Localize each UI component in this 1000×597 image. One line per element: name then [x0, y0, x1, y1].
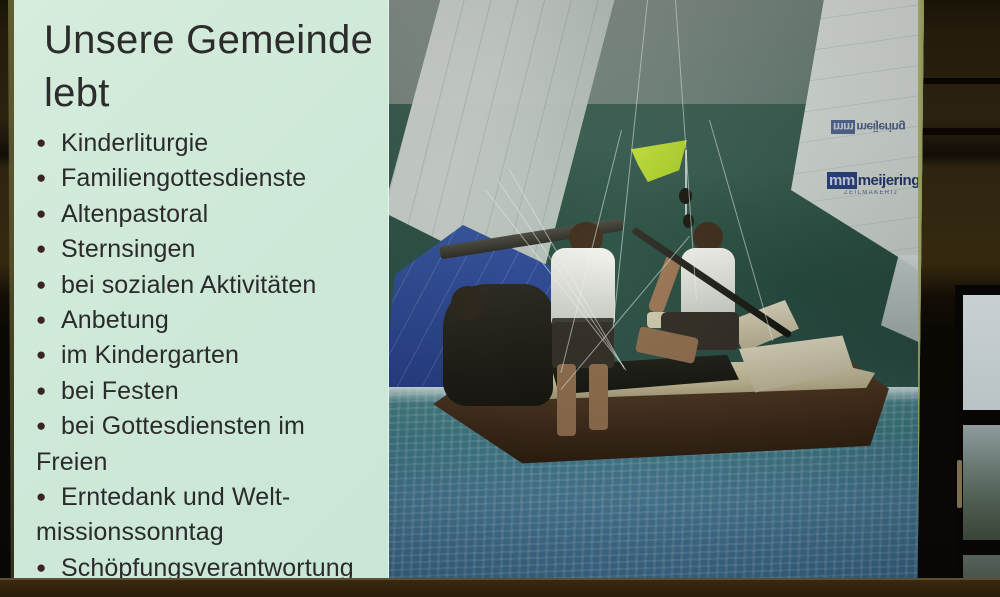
slide-text-panel: Unsere Gemeinde lebt Kinderliturgie Fami… [14, 0, 389, 578]
list-item: Erntedank und Welt- [36, 480, 381, 515]
sail-logo-mirrored: mmmeijering [831, 120, 905, 134]
list-item: bei sozialen Aktivitäten [36, 268, 381, 303]
list-item-continuation: Freien [36, 445, 381, 480]
slide-title: Unsere Gemeinde lebt [44, 14, 381, 120]
slide-bullet-list: Kinderliturgie Familiengottesdienste Alt… [36, 126, 381, 578]
rigging-block-lower [683, 214, 694, 228]
list-item-continuation: missionssonntag [36, 515, 381, 550]
sail-logo-primary: mmmeijering [827, 172, 920, 189]
screenshot-stage: Unsere Gemeinde lebt Kinderliturgie Fami… [0, 0, 1000, 597]
bottom-dark-band [0, 578, 1000, 597]
slide-photo-sailing: mmmeijering mmmeijering ZEILMAKERIJ [389, 0, 924, 578]
list-item: Anbetung [36, 303, 381, 338]
list-item: Familiengottesdienste [36, 161, 381, 196]
list-item: bei Festen [36, 374, 381, 409]
window-pane-top [963, 295, 1000, 410]
door-handle[interactable] [957, 460, 962, 508]
window-pane-middle [963, 425, 1000, 540]
list-item: Schöpfungsverantwortung [36, 551, 381, 578]
list-item: Kinderliturgie [36, 126, 381, 161]
projection-screen: Unsere Gemeinde lebt Kinderliturgie Fami… [8, 0, 924, 578]
crew-center-leg-right [589, 364, 608, 430]
window-door-frame [955, 285, 1000, 597]
list-item: Sternsingen [36, 232, 381, 267]
list-item: Altenpastoral [36, 197, 381, 232]
crew-forward-head [451, 286, 485, 320]
list-item: im Kindergarten [36, 338, 381, 373]
sail-logo-subtext: ZEILMAKERIJ [844, 190, 898, 196]
list-item: bei Gottesdiensten im [36, 409, 381, 444]
